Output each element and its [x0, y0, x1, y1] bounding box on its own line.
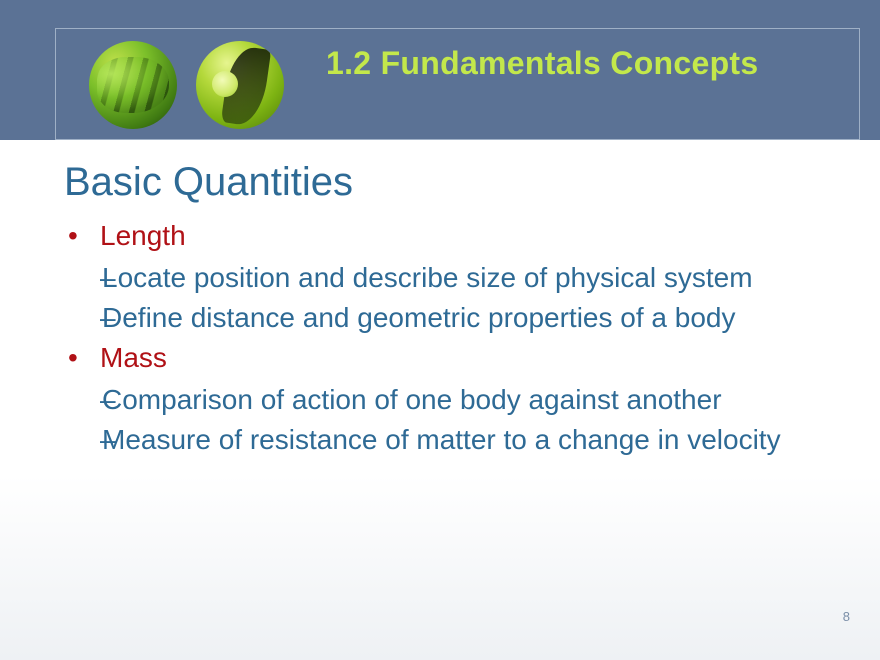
bullet-list: • Length – Locate position and describe … [62, 218, 862, 462]
dash-marker-icon: – [100, 261, 116, 295]
slide-header-title: 1.2 Fundamentals Concepts [326, 43, 846, 84]
list-item: – Define distance and geometric properti… [62, 301, 862, 335]
dash-marker-icon: – [100, 383, 116, 417]
list-item: • Length [62, 218, 862, 255]
slide: 1.2 Fundamentals Concepts Basic Quantiti… [0, 0, 880, 660]
slide-content: Basic Quantities • Length – Locate posit… [0, 140, 880, 660]
page-number: 8 [843, 609, 850, 624]
list-item: • Mass [62, 340, 862, 377]
list-item: – Measure of resistance of matter to a c… [62, 423, 862, 457]
page-title: Basic Quantities [64, 162, 353, 202]
list-item-label: Locate position and describe size of phy… [102, 261, 862, 295]
dash-marker-icon: – [100, 423, 116, 457]
bullet-marker-icon: • [68, 218, 78, 255]
seed-pods-photo-icon [89, 41, 177, 129]
dash-marker-icon: – [100, 301, 116, 335]
list-item-label: Length [100, 220, 186, 251]
list-item-label: Measure of resistance of matter to a cha… [102, 423, 862, 457]
green-leaf-photo-icon [196, 41, 284, 129]
list-item-label: Define distance and geometric properties… [102, 301, 862, 335]
list-item: – Comparison of action of one body again… [62, 383, 862, 417]
bullet-marker-icon: • [68, 340, 78, 377]
list-item-label: Comparison of action of one body against… [102, 383, 862, 417]
list-item: – Locate position and describe size of p… [62, 261, 862, 295]
header-box: 1.2 Fundamentals Concepts [55, 28, 860, 140]
list-item-label: Mass [100, 342, 167, 373]
